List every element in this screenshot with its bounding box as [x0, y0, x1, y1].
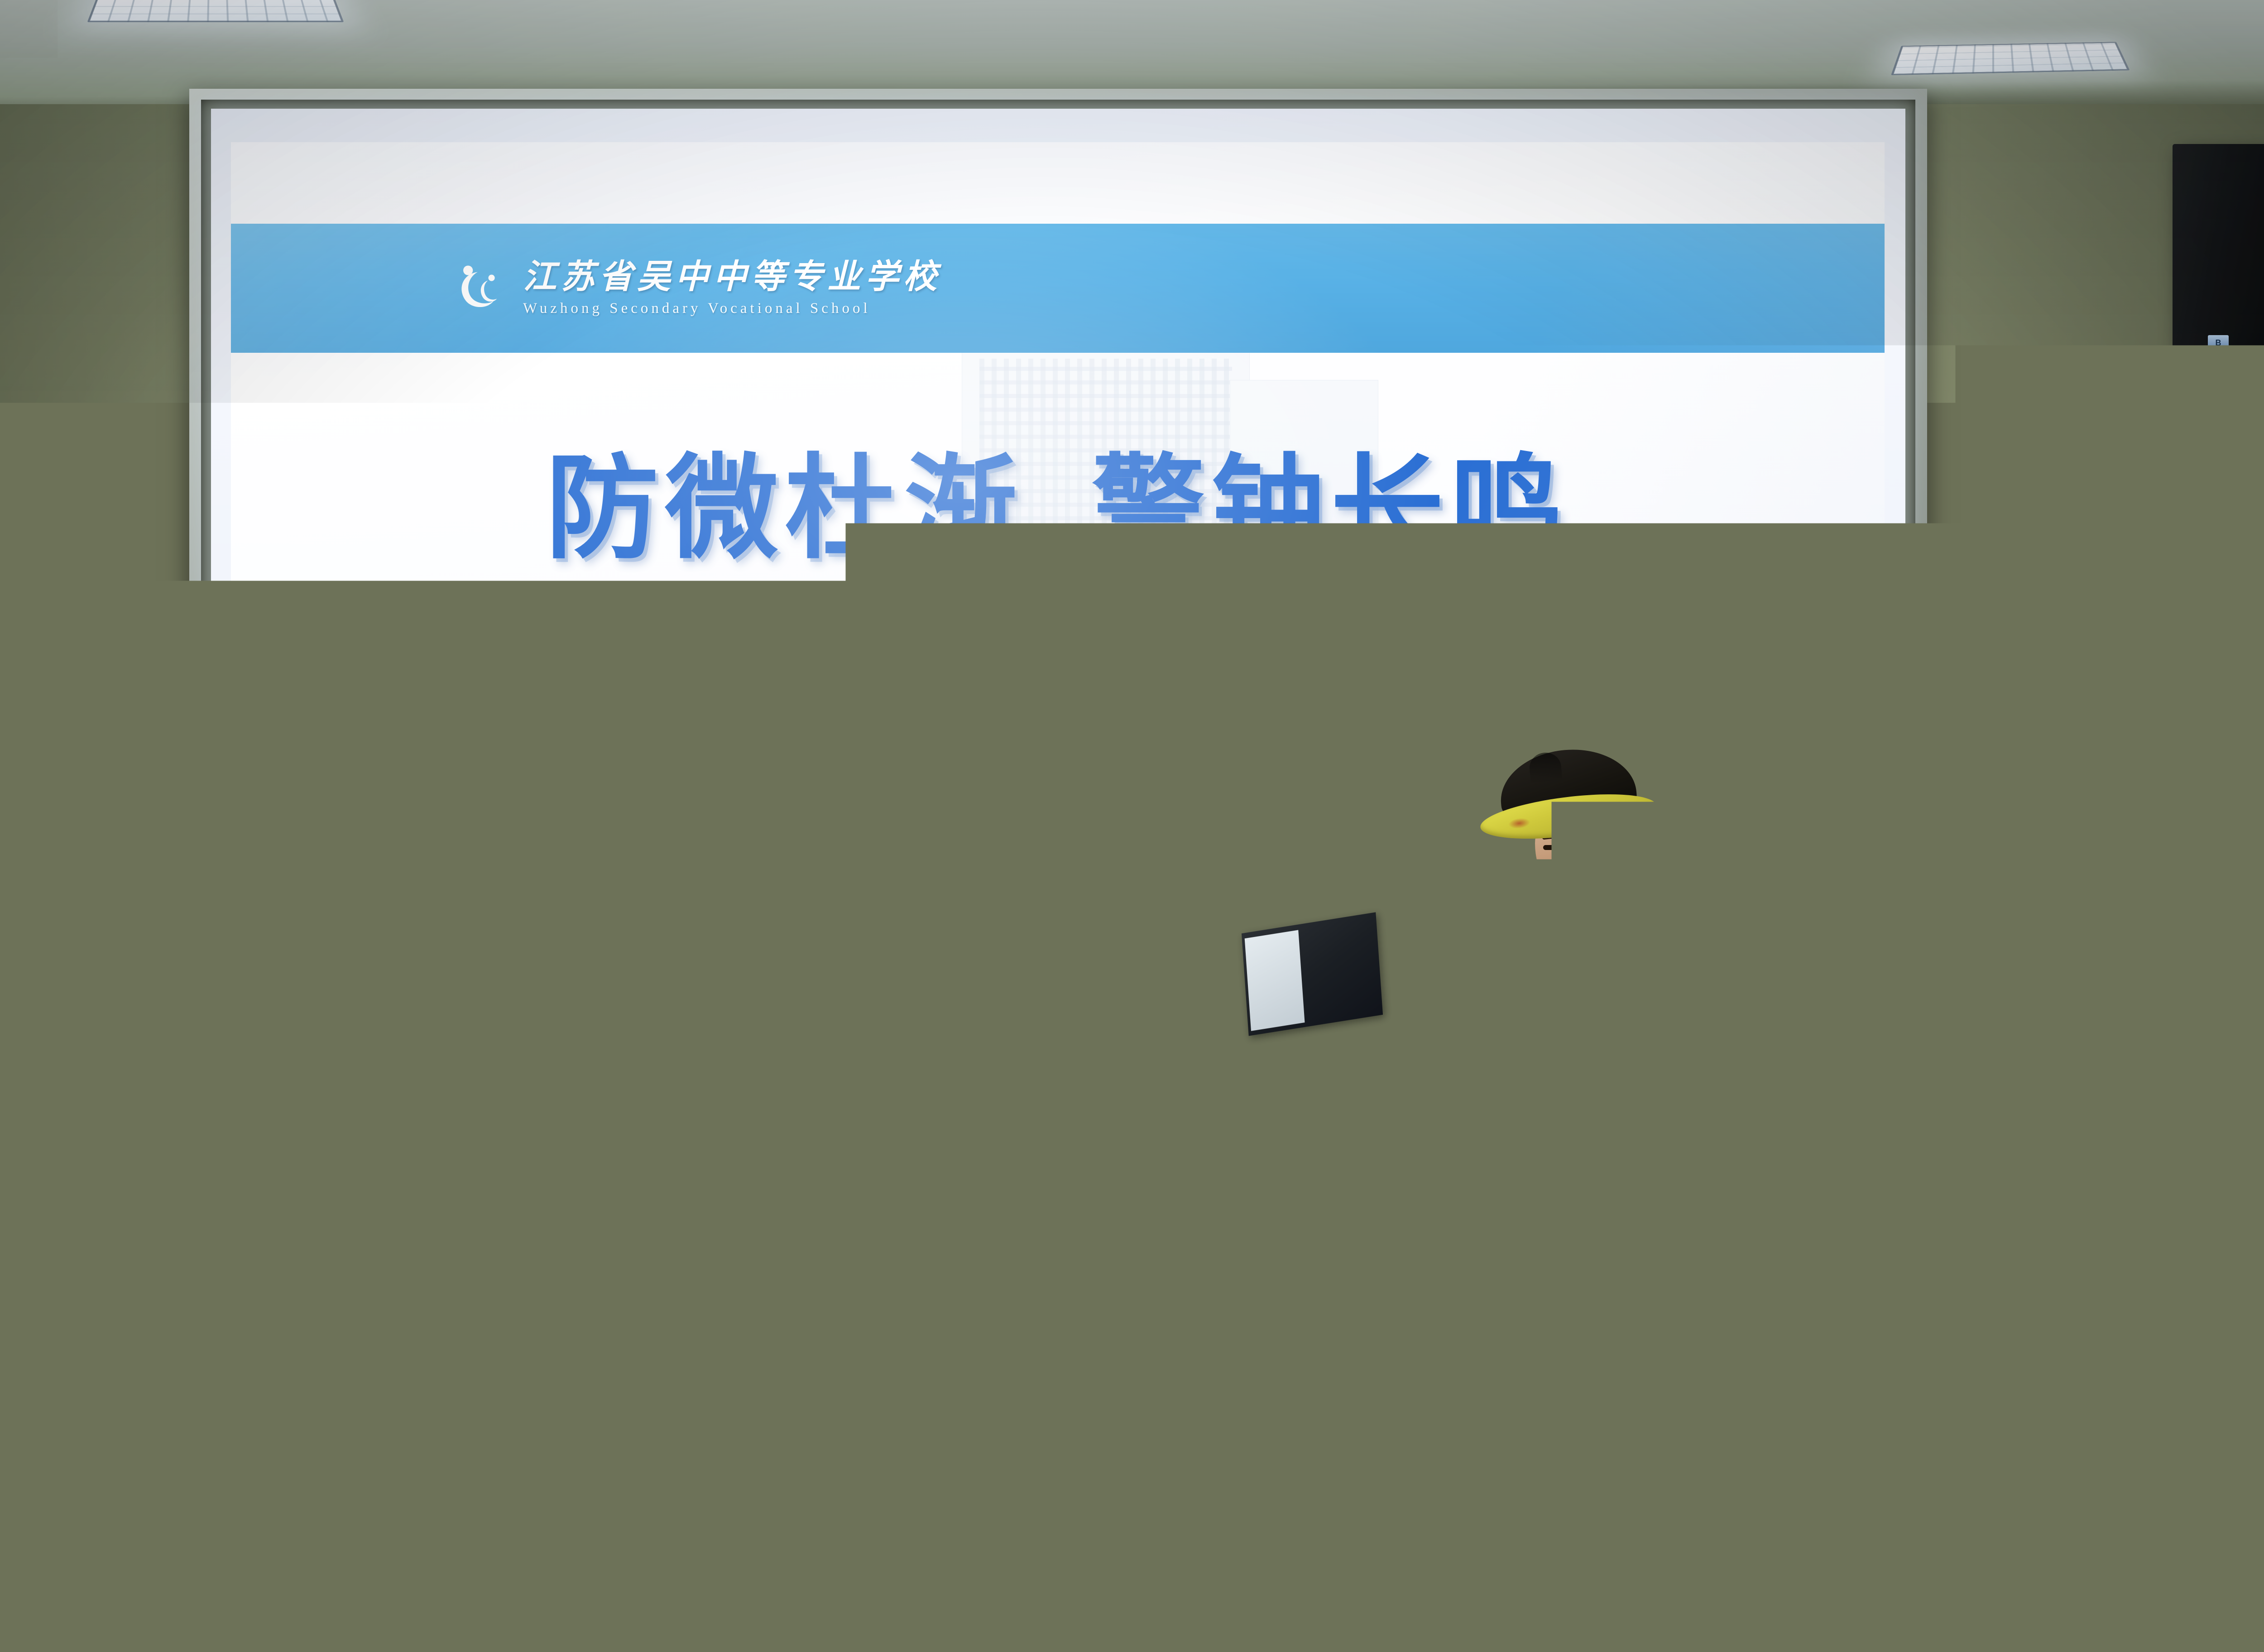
ceiling-light-panel-3 [1891, 42, 2130, 75]
male-khata-scarf-right [1530, 1218, 1578, 1349]
female-chuba-skirt [1133, 1208, 1338, 1566]
speaker-badge-letter: B [2216, 338, 2221, 348]
female-skirt-brocade-pattern [1133, 1208, 1338, 1566]
male-eye-left [1543, 845, 1560, 850]
slide-title: 防微杜渐警钟长鸣 [231, 416, 1885, 580]
male-collar-trim [1536, 900, 1607, 919]
phone-camera-lens-secondary [62, 1269, 72, 1278]
light-panel-rim [87, 0, 344, 22]
male-nose [1566, 853, 1573, 870]
male-boot-right [1579, 1531, 1643, 1569]
presentation-scene: 江苏省吴中中等专业学校 Wuzhong Secondary Vocational… [0, 0, 2264, 1652]
male-mouth [1559, 878, 1582, 884]
audience-hand-with-phone [0, 1243, 131, 1460]
yellow-smartphone [37, 1243, 91, 1316]
slide-logo-text: 江苏省吴中中等专业学校 Wuzhong Secondary Vocational… [523, 260, 941, 316]
slide-title-part-1: 防微杜渐 [546, 445, 1024, 571]
folder-page [1642, 983, 1703, 1081]
male-leg-right [1588, 1375, 1632, 1547]
phone-camera-lens [48, 1255, 59, 1266]
wall-speaker: B [2173, 144, 2264, 367]
male-presenter [1436, 750, 1690, 1601]
speaker-brand-badge: B [2208, 335, 2229, 351]
male-presenter-folder [1551, 979, 1706, 1096]
male-eye-right [1578, 843, 1595, 848]
ceiling-light-panel-1 [87, 0, 344, 22]
female-shoe-left [1156, 1561, 1214, 1588]
slide-title-part-2: 警钟长鸣 [1092, 445, 1570, 571]
school-swirl-logo-icon [454, 261, 508, 315]
school-name-chinese: 江苏省吴中中等专业学校 [523, 260, 941, 294]
slide-logo-banner: 江苏省吴中中等专业学校 Wuzhong Secondary Vocational… [231, 224, 1885, 353]
speaker-top-panel [2168, 135, 2264, 150]
male-leg-left [1533, 1375, 1577, 1547]
lectern-edge [212, 1283, 222, 1652]
male-boot-left [1521, 1531, 1585, 1569]
female-shoe-right [1240, 1561, 1298, 1588]
light-panel-rim [1891, 42, 2130, 75]
folder-page [1245, 930, 1305, 1031]
light-panel-rim [1176, 0, 1414, 25]
ceiling-light-panel-2 [1176, 0, 1414, 25]
school-name-english: Wuzhong Secondary Vocational School [523, 301, 941, 316]
female-presenter-folder [1242, 912, 1383, 1036]
